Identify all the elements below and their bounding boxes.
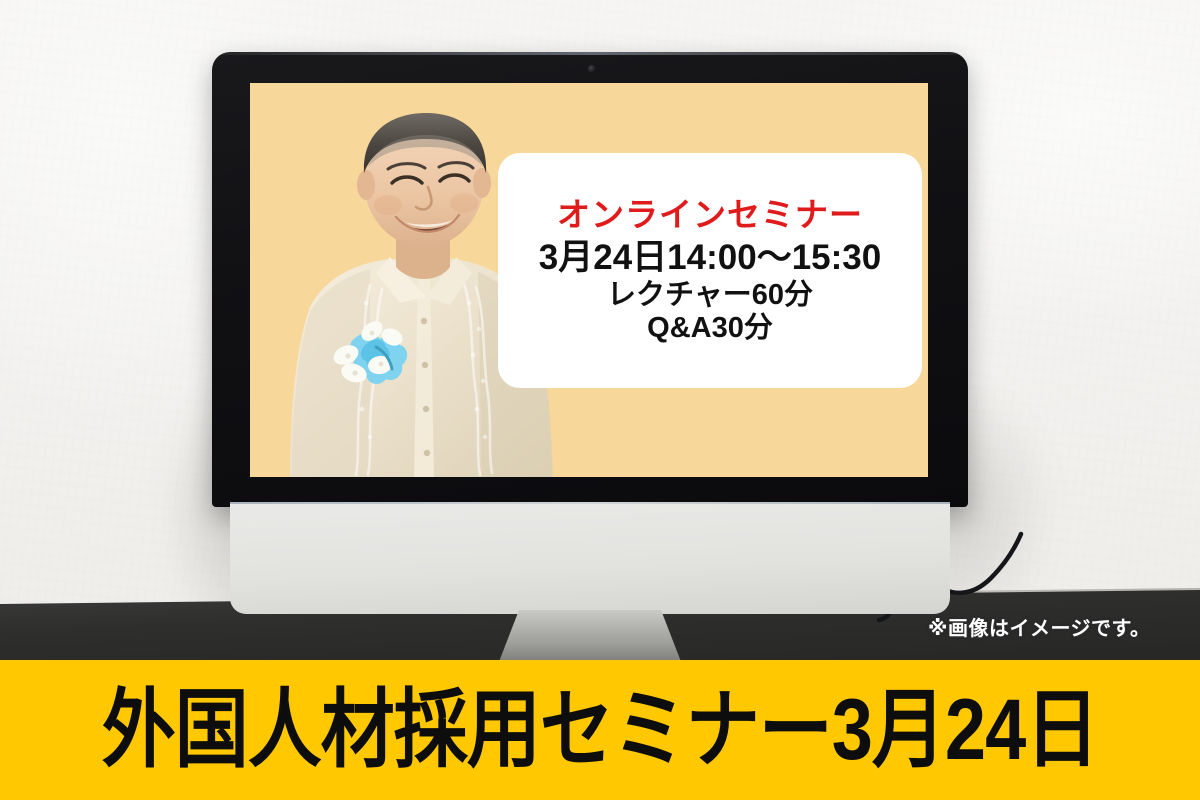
monitor-chin	[230, 504, 950, 614]
bottom-banner: 外国人材採用セミナー3月24日	[0, 660, 1200, 800]
card-datetime: 3月24日14:00〜15:30	[539, 239, 881, 277]
bezel-top-highlight	[212, 52, 968, 55]
webcam-icon	[588, 65, 596, 73]
monitor-bezel: オンラインセミナー 3月24日14:00〜15:30 レクチャー60分 Q&A3…	[212, 52, 968, 507]
poster-canvas: オンラインセミナー 3月24日14:00〜15:30 レクチャー60分 Q&A3…	[0, 0, 1200, 800]
card-title: オンラインセミナー	[557, 198, 863, 233]
image-disclaimer: ※画像はイメージです。	[928, 612, 1151, 641]
seminar-info-card: オンラインセミナー 3月24日14:00〜15:30 レクチャー60分 Q&A3…	[498, 153, 922, 388]
monitor-screen: オンラインセミナー 3月24日14:00〜15:30 レクチャー60分 Q&A3…	[250, 83, 928, 477]
banner-headline: 外国人材採用セミナー3月24日	[102, 687, 1098, 773]
card-lecture-duration: レクチャー60分	[607, 279, 813, 311]
computer-monitor: オンラインセミナー 3月24日14:00〜15:30 レクチャー60分 Q&A3…	[212, 52, 968, 572]
card-qa-duration: Q&A30分	[647, 312, 773, 344]
